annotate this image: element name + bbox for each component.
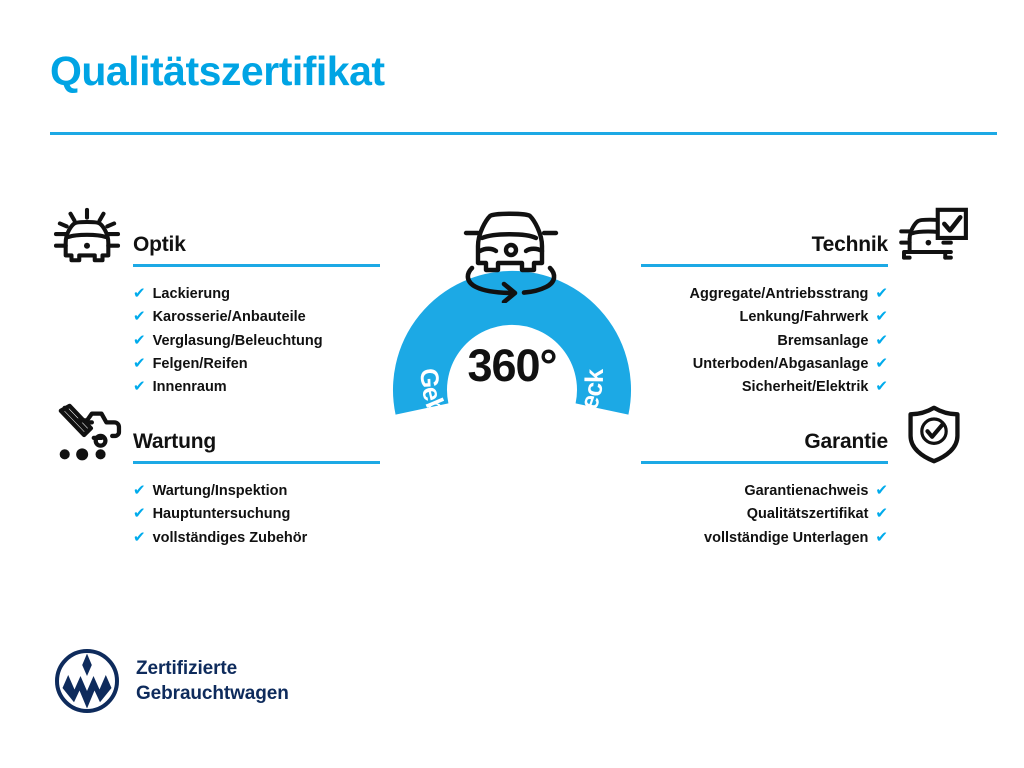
check-icon: ✔ (875, 530, 888, 545)
check-icon: ✔ (875, 483, 888, 498)
list-item: ✔Wartung/Inspektion (133, 480, 380, 503)
section-wartung-title: Wartung (133, 430, 216, 454)
check-icon: ✔ (133, 333, 146, 348)
volkswagen-logo-icon (54, 648, 120, 714)
list-item: ✔Verglasung/Beleuchtung (133, 330, 380, 353)
check-icon: ✔ (875, 286, 888, 301)
list-item-label: Sicherheit/Elektrik (742, 376, 869, 399)
section-garantie-title: Garantie (804, 430, 888, 454)
section-garantie: Garantie Garantienachweis✔ Qualitätszert… (641, 402, 973, 550)
list-item: Lenkung/Fahrwerk✔ (641, 306, 888, 329)
list-item: Bremsanlage✔ (641, 330, 888, 353)
section-technik-title: Technik (812, 233, 888, 257)
list-item-label: Unterboden/Abgasanlage (693, 353, 869, 376)
check-icon: ✔ (133, 286, 146, 301)
list-item: vollständige Unterlagen✔ (641, 527, 888, 550)
page-title: Qualitätszertifikat (50, 49, 385, 94)
section-optik: Optik ✔Lackierung ✔Karosserie/Anbauteile… (48, 205, 380, 399)
check-icon: ✔ (875, 506, 888, 521)
car-checkbox-icon (895, 205, 973, 269)
section-technik: Technik Aggregate/Antriebsstrang✔ Lenkun… (641, 205, 973, 399)
section-wartung: Wartung ✔Wartung/Inspektion ✔Hauptunters… (48, 402, 380, 550)
vw-footer-logo: Zertifizierte Gebrauchtwagen (54, 648, 289, 714)
vw-wordmark-line2: Gebrauchtwagen (136, 681, 289, 706)
section-technik-divider (641, 264, 888, 267)
list-item: Sicherheit/Elektrik✔ (641, 376, 888, 399)
list-item-label: vollständiges Zubehör (153, 527, 308, 550)
section-optik-list: ✔Lackierung ✔Karosserie/Anbauteile ✔Verg… (48, 283, 380, 399)
vw-wordmark: Zertifizierte Gebrauchtwagen (136, 656, 289, 707)
list-item: ✔Innenraum (133, 376, 380, 399)
list-item-label: Qualitätszertifikat (747, 503, 869, 526)
section-technik-list: Aggregate/Antriebsstrang✔ Lenkung/Fahrwe… (641, 283, 973, 399)
list-item-label: Garantienachweis (744, 480, 868, 503)
badge-center-label: 360° (378, 343, 646, 388)
list-item-label: Bremsanlage (777, 330, 868, 353)
title-divider (50, 132, 997, 135)
list-item-label: Karosserie/Anbauteile (153, 306, 306, 329)
list-item-label: Hauptuntersuchung (153, 503, 291, 526)
list-item: ✔Karosserie/Anbauteile (133, 306, 380, 329)
car-rotate-icon (452, 198, 570, 303)
list-item-label: vollständige Unterlagen (704, 527, 868, 550)
check-icon: ✔ (875, 379, 888, 394)
shield-check-icon (895, 402, 973, 466)
section-wartung-divider (133, 461, 380, 464)
list-item-label: Lackierung (153, 283, 230, 306)
list-item: ✔Felgen/Reifen (133, 353, 380, 376)
list-item: Qualitätszertifikat✔ (641, 503, 888, 526)
check-icon: ✔ (133, 483, 146, 498)
section-garantie-list: Garantienachweis✔ Qualitätszertifikat✔ v… (641, 480, 973, 550)
vw-wordmark-line1: Zertifizierte (136, 656, 289, 681)
section-optik-header: Optik (48, 205, 380, 273)
section-wartung-header: Wartung (48, 402, 380, 470)
list-item-label: Felgen/Reifen (153, 353, 248, 376)
list-item-label: Aggregate/Antriebsstrang (690, 283, 869, 306)
list-item-label: Verglasung/Beleuchtung (153, 330, 323, 353)
section-optik-divider (133, 264, 380, 267)
certificate-page: Qualitätszertifikat (0, 0, 1024, 768)
list-item-label: Lenkung/Fahrwerk (740, 306, 869, 329)
check-icon: ✔ (133, 356, 146, 371)
section-technik-header: Technik (641, 205, 973, 273)
check-icon: ✔ (875, 356, 888, 371)
list-item: ✔Hauptuntersuchung (133, 503, 380, 526)
section-garantie-header: Garantie (641, 402, 973, 470)
list-item: Aggregate/Antriebsstrang✔ (641, 283, 888, 306)
check-icon: ✔ (133, 379, 146, 394)
check-icon: ✔ (133, 530, 146, 545)
list-item-label: Wartung/Inspektion (153, 480, 288, 503)
check-icon: ✔ (875, 309, 888, 324)
pencil-car-service-icon (48, 402, 126, 466)
section-wartung-list: ✔Wartung/Inspektion ✔Hauptuntersuchung ✔… (48, 480, 380, 550)
list-item: Unterboden/Abgasanlage✔ (641, 353, 888, 376)
section-garantie-divider (641, 461, 888, 464)
list-item-label: Innenraum (153, 376, 227, 399)
list-item: ✔vollständiges Zubehör (133, 527, 380, 550)
check-icon: ✔ (875, 333, 888, 348)
check-icon: ✔ (133, 506, 146, 521)
section-optik-title: Optik (133, 233, 186, 257)
car-shine-icon (48, 205, 126, 269)
list-item: ✔Lackierung (133, 283, 380, 306)
check-icon: ✔ (133, 309, 146, 324)
list-item: Garantienachweis✔ (641, 480, 888, 503)
